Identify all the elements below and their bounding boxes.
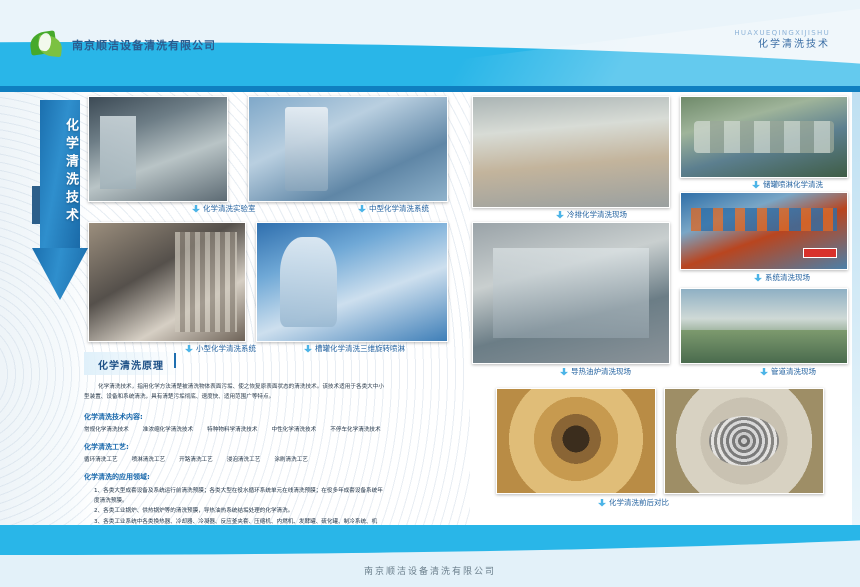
- intro-text: 化学清洗技术，指用化学方法清楚被清洗物体表面污垢、使之恢复原表面状态的清洗技术。…: [84, 384, 384, 400]
- down-arrow-bullet-icon: [358, 205, 366, 213]
- arrow-label: 化学清洗技术: [40, 118, 80, 226]
- list-item: 中性化学清洗技术: [271, 425, 316, 433]
- photo-after-cleaning: [664, 388, 824, 494]
- company-name: 南京顺洁设备清洗有限公司: [72, 37, 216, 53]
- caption-text: 导热油炉清洗现场: [571, 366, 631, 377]
- caption-photo-5: 储罐喷淋化学清洗: [752, 179, 823, 190]
- list-process: 循环清洗工艺 喷淋清洗工艺 开路清洗工艺 浸泡清洗工艺 涂刷清洗工艺: [84, 455, 384, 463]
- caption-text: 系统清洗现场: [765, 272, 810, 283]
- list-item: 涂刷清洗工艺: [274, 455, 308, 463]
- down-arrow-bullet-icon: [598, 499, 606, 507]
- arrow-head-icon: [32, 248, 88, 300]
- photo-tank-spray: [256, 222, 448, 342]
- page-footer: 南京顺洁设备清洗有限公司: [0, 525, 860, 587]
- photo-thermal-oil-furnace: [472, 222, 670, 364]
- header-bottom-strip: [0, 86, 860, 92]
- photo-pipeline-site: [680, 288, 848, 364]
- section-title-rule: [174, 353, 176, 368]
- down-arrow-bullet-icon: [754, 274, 762, 282]
- caption-text: 管道清洗现场: [771, 366, 816, 377]
- caption-text: 化学清洗实验室: [203, 203, 256, 214]
- photo-medium-system: [248, 96, 448, 202]
- caption-photo-9: 化学清洗前后对比: [598, 497, 669, 508]
- list-item: 浸泡清洗工艺: [227, 455, 261, 463]
- heading-applications: 化学清洗的应用领域:: [84, 472, 384, 482]
- down-arrow-bullet-icon: [752, 181, 760, 189]
- photo-lab: [88, 96, 228, 202]
- company-logo: 南京顺洁设备清洗有限公司: [30, 30, 216, 60]
- list-item: 准浓缩化学清洗技术: [143, 425, 193, 433]
- footer-company-name: 南京顺洁设备清洗有限公司: [0, 564, 860, 577]
- list-item: 常规化学清洗技术: [84, 425, 129, 433]
- photo-before-cleaning: [496, 388, 656, 494]
- photo-system-site: [680, 192, 848, 270]
- intro-paragraph: 化学清洗技术，指用化学方法清楚被清洗物体表面污垢、使之恢复原表面状态的清洗技术。…: [84, 382, 384, 403]
- section-title: 化学清洗原理: [84, 352, 180, 375]
- down-arrow-bullet-icon: [560, 368, 568, 376]
- list-item: 不停车化学清洗技术: [330, 425, 380, 433]
- photo-small-system: [88, 222, 246, 342]
- down-arrow-bullet-icon: [760, 368, 768, 376]
- footer-wave-light: [0, 525, 860, 555]
- down-arrow-bullet-icon: [192, 205, 200, 213]
- header-title-block: HUAXUEQINGXIJISHU 化学清洗技术: [734, 28, 830, 53]
- caption-photo-1: 中型化学清洗系统: [358, 203, 429, 214]
- list-tech-content: 常规化学清洗技术 准浓缩化学清洗技术 特种物料学清洗技术 中性化学清洗技术 不停…: [84, 425, 384, 433]
- photo-tank-chemical-clean: [680, 96, 848, 178]
- caption-photo-0: 化学清洗实验室: [192, 203, 256, 214]
- down-arrow-bullet-icon: [556, 211, 564, 219]
- heading-process: 化学清洗工艺:: [84, 442, 384, 452]
- poster-page: 南京顺洁设备清洗有限公司 HUAXUEQINGXIJISHU 化学清洗技术 化学…: [0, 0, 860, 587]
- list-item: 开路清洗工艺: [179, 455, 213, 463]
- header-pinyin: HUAXUEQINGXIJISHU: [734, 28, 830, 38]
- caption-photo-4: 冷排化学清洗现场: [556, 209, 627, 220]
- right-edge-gradient: [852, 92, 860, 525]
- caption-photo-6: 系统清洗现场: [754, 272, 810, 283]
- caption-photo-7: 导热油炉清洗现场: [560, 366, 631, 377]
- caption-text: 化学清洗前后对比: [609, 497, 669, 508]
- list-item: 喷淋清洗工艺: [132, 455, 166, 463]
- list-item: 特种物料学清洗技术: [207, 425, 257, 433]
- caption-text: 冷排化学清洗现场: [567, 209, 627, 220]
- header-title: 化学清洗技术: [734, 38, 830, 53]
- green-leaf-logo-icon: [30, 30, 64, 60]
- photo-cold-row-site: [472, 96, 670, 208]
- caption-text: 储罐喷淋化学清洗: [763, 179, 823, 190]
- caption-photo-8: 管道清洗现场: [760, 366, 816, 377]
- photo-red-tag: [803, 248, 837, 258]
- section-title-text: 化学清洗原理: [98, 361, 164, 372]
- list-item: 1、各类大型成套设备及系统运行前清洗预膜；各类大型在役水循环系统单元在线清洗预膜…: [84, 486, 384, 507]
- heading-tech-content: 化学清洗技术内容:: [84, 412, 384, 422]
- list-item: 2、各类工业锅炉、供热锅炉等的清洗预膜，导热油热系统结垢处理的化学清洗。: [84, 506, 384, 516]
- caption-text: 中型化学清洗系统: [369, 203, 429, 214]
- list-item: 循环清洗工艺: [84, 455, 118, 463]
- arrow-banner: 化学清洗技术: [32, 100, 88, 300]
